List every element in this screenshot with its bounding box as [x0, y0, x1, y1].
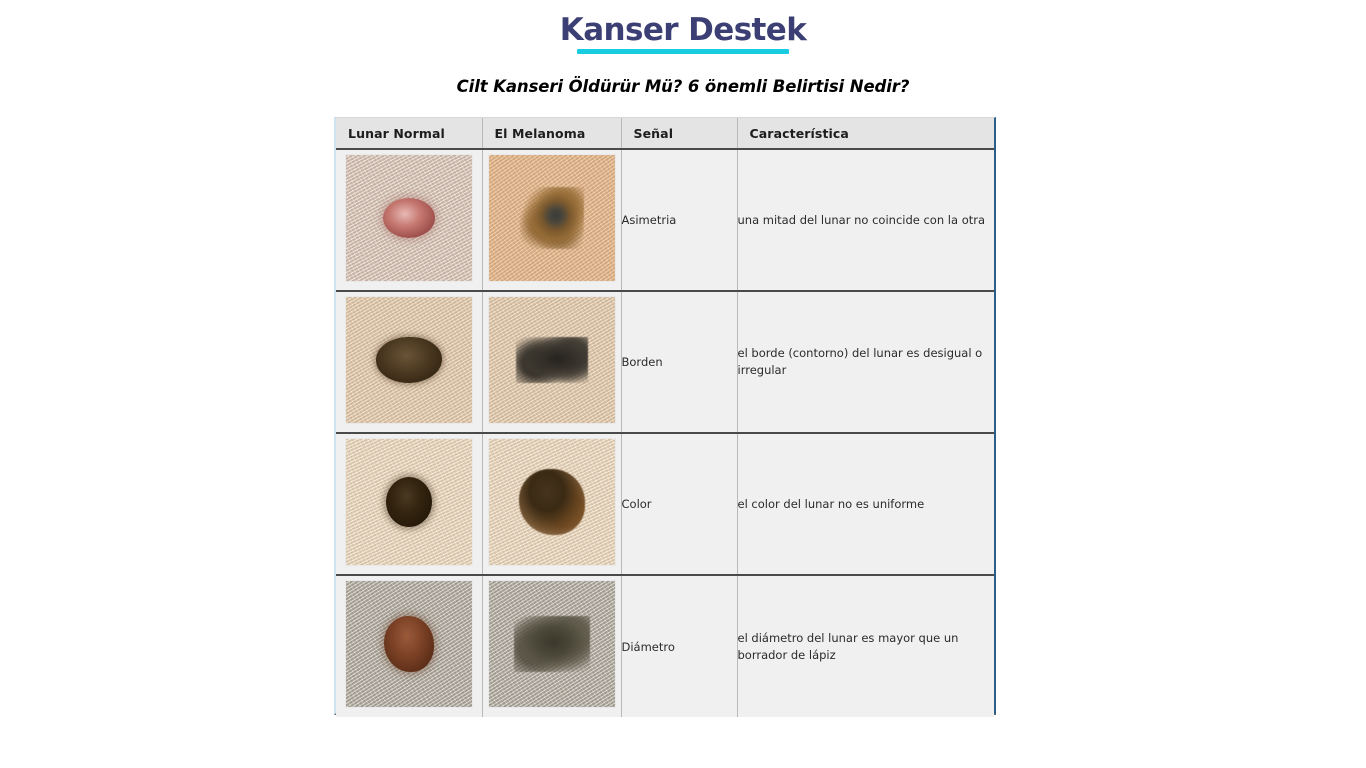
logo-underline-accent — [577, 49, 789, 54]
page-title: Cilt Kanseri Öldürür Mü? 6 önemli Belirt… — [0, 77, 1366, 96]
photo-melanoma-color — [488, 438, 616, 566]
column-header-caracteristica: Característica — [737, 118, 994, 149]
lesion-shape — [520, 187, 584, 249]
photo-melanoma-borden — [488, 296, 616, 424]
table-row: Color el color del lunar no es uniforme — [336, 433, 994, 575]
cell-senal: Color — [621, 433, 737, 575]
table-header: Lunar Normal El Melanoma Señal Caracterí… — [336, 118, 994, 149]
cell-caracteristica: el diámetro del lunar es mayor que un bo… — [737, 575, 994, 717]
melanoma-signs-table: Lunar Normal El Melanoma Señal Caracterí… — [336, 118, 994, 717]
photo-melanoma-asimetria — [488, 154, 616, 282]
lesion-shape — [376, 337, 442, 383]
cell-el-melanoma — [482, 291, 621, 433]
cell-caracteristica: el borde (contorno) del lunar es desigua… — [737, 291, 994, 433]
column-header-senal: Señal — [621, 118, 737, 149]
cell-lunar-normal — [336, 575, 482, 717]
table-row: Diámetro el diámetro del lunar es mayor … — [336, 575, 994, 717]
cell-lunar-normal — [336, 433, 482, 575]
lesion-shape — [516, 337, 588, 383]
lesion-shape — [514, 616, 590, 672]
cell-caracteristica: una mitad del lunar no coincide con la o… — [737, 149, 994, 291]
column-header-lunar-normal: Lunar Normal — [336, 118, 482, 149]
cell-senal: Asimetria — [621, 149, 737, 291]
photo-lunar-normal-diametro — [345, 580, 473, 708]
photo-lunar-normal-asimetria — [345, 154, 473, 282]
lesion-shape — [386, 477, 432, 527]
lesion-shape — [384, 616, 434, 672]
cell-el-melanoma — [482, 433, 621, 575]
cell-el-melanoma — [482, 575, 621, 717]
cell-caracteristica: el color del lunar no es uniforme — [737, 433, 994, 575]
cell-el-melanoma — [482, 149, 621, 291]
cell-lunar-normal — [336, 149, 482, 291]
cell-senal: Diámetro — [621, 575, 737, 717]
lesion-shape — [383, 198, 435, 238]
page-root: Kanser Destek Cilt Kanseri Öldürür Mü? 6… — [0, 0, 1366, 768]
table-row: Asimetria una mitad del lunar no coincid… — [336, 149, 994, 291]
column-header-el-melanoma: El Melanoma — [482, 118, 621, 149]
photo-lunar-normal-borden — [345, 296, 473, 424]
cell-senal: Borden — [621, 291, 737, 433]
table-header-row: Lunar Normal El Melanoma Señal Caracterí… — [336, 118, 994, 149]
photo-melanoma-diametro — [488, 580, 616, 708]
table-row: Borden el borde (contorno) del lunar es … — [336, 291, 994, 433]
lesion-shape — [519, 469, 585, 535]
abcd-melanoma-figure: Lunar Normal El Melanoma Señal Caracterí… — [334, 117, 996, 715]
table-body: Asimetria una mitad del lunar no coincid… — [336, 149, 994, 717]
photo-lunar-normal-color — [345, 438, 473, 566]
site-logo[interactable]: Kanser Destek — [0, 14, 1366, 54]
cell-lunar-normal — [336, 291, 482, 433]
logo-wordmark: Kanser Destek — [560, 14, 806, 47]
